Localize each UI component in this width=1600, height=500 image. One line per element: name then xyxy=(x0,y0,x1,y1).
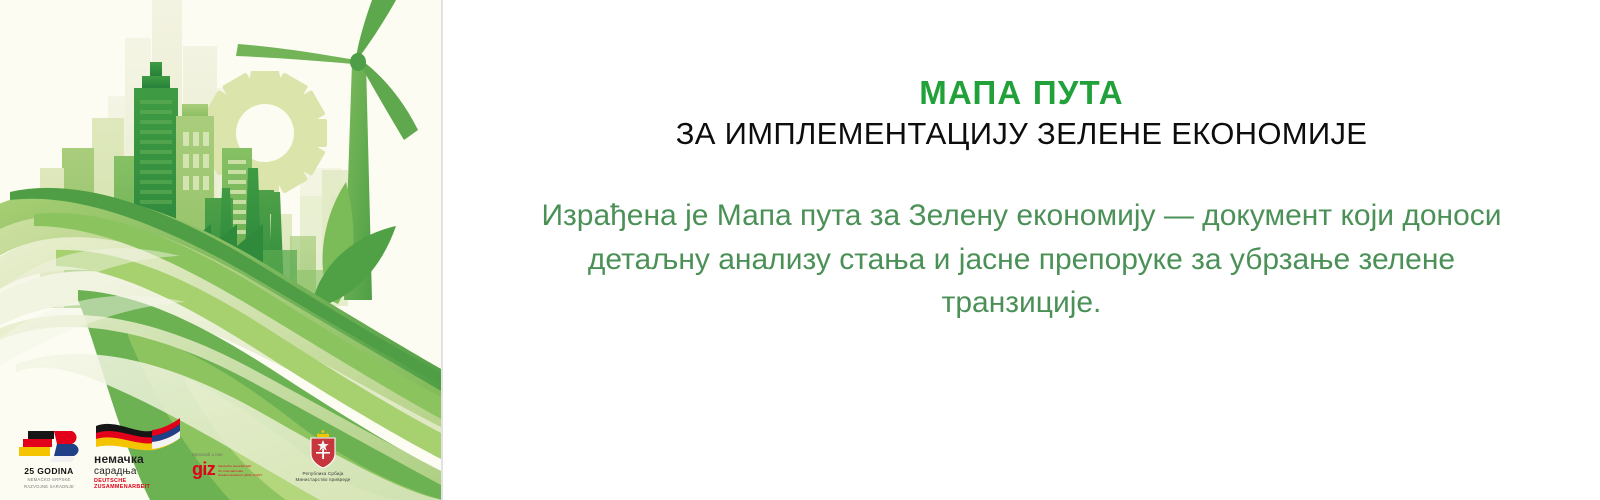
logo-ministry-of-economy: Република Србија Министарство привреде xyxy=(280,429,366,491)
logo-godina-caption: 25 GODINA xyxy=(10,466,88,476)
logo-giz-wordmark: giz xyxy=(192,462,215,477)
logo-giz: Sprovodi u ime giz Deutsche Gesellschaft… xyxy=(192,452,264,490)
content-panel: МАПА ПУТА ЗА ИМПЛЕМЕНТАЦИЈУ ЗЕЛЕНЕ ЕКОНО… xyxy=(443,0,1600,500)
logo-dc-line2: сарадња xyxy=(94,466,180,477)
title-line-secondary: ЗА ИМПЛЕМЕНТАЦИЈУ ЗЕЛЕНЕ ЕКОНОМИЈЕ xyxy=(443,115,1600,152)
logo-giz-descriptor-line3: Zusammenarbeit (GIZ) GmbH xyxy=(218,473,262,478)
logo-deutsche-cooperation: немачка сарадња DEUTSCHE ZUSAMMENARBEIT xyxy=(94,418,180,490)
logo-25-godina: 25 GODINA NEMAČKO-SRPSKE RAZVOJNE SARADN… xyxy=(10,425,88,490)
logo-ministry-line1: Република Србија xyxy=(280,471,366,476)
slide-root: 25 GODINA NEMAČKO-SRPSKE RAZVOJNE SARADN… xyxy=(0,0,1600,500)
logo-giz-descriptor: Deutsche Gesellschaft für Internationale… xyxy=(218,462,262,478)
logo-dc-line3: DEUTSCHE ZUSAMMENARBEIT xyxy=(94,478,180,490)
illustration-panel: 25 GODINA NEMAČKO-SRPSKE RAZVOJNE SARADN… xyxy=(0,0,443,500)
german-serbian-flag-mark-icon xyxy=(10,425,88,465)
page-title: МАПА ПУТА ЗА ИМПЛЕМЕНТАЦИЈУ ЗЕЛЕНЕ ЕКОНО… xyxy=(443,74,1600,152)
logo-giz-prefix: Sprovodi u ime xyxy=(192,452,264,457)
body-paragraph: Израђена је Мапа пута за Зелену економиј… xyxy=(509,194,1534,325)
logo-godina-subline1: NEMAČKO-SRPSKE xyxy=(10,477,88,483)
logo-dc-line1: немачка xyxy=(94,453,180,466)
serbian-coat-of-arms-icon xyxy=(280,429,366,469)
logo-godina-subline2: RAZVOJNE SARADNJE xyxy=(10,484,88,490)
german-serbian-ribbon-icon xyxy=(94,418,180,452)
logo-ministry-line2: Министарство привреде xyxy=(280,477,366,482)
title-line-primary: МАПА ПУТА xyxy=(443,74,1600,112)
partner-logos-strip: 25 GODINA NEMAČKO-SRPSKE RAZVOJNE SARADN… xyxy=(0,414,443,496)
